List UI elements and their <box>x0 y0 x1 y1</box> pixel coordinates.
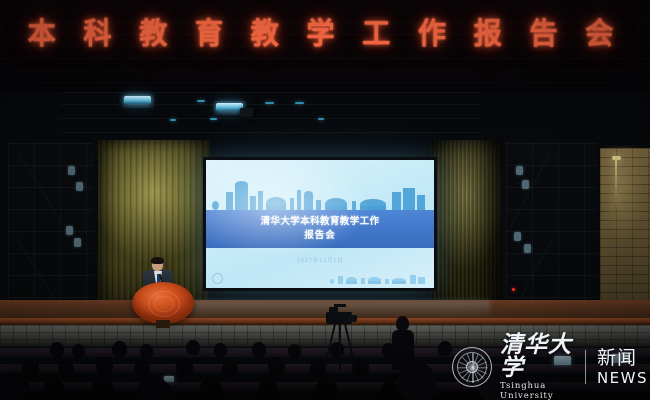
audience-head <box>50 342 64 357</box>
operator-head <box>396 316 409 331</box>
tsinghua-seal-icon <box>452 347 492 387</box>
audience-head <box>58 360 74 377</box>
watermark-university-cn: 清华大学 <box>500 333 573 379</box>
stage-lamp-2 <box>216 103 243 111</box>
lighting-rig <box>60 88 480 146</box>
podium-front-disc <box>132 282 194 324</box>
audience-head <box>438 341 452 356</box>
slide-title-band: 清华大学本科教育教学工作 报告会 <box>206 210 434 248</box>
slide-title-line1: 清华大学本科教育教学工作 <box>261 216 380 228</box>
audience-head <box>96 357 113 375</box>
stage-lamp-6 <box>295 102 304 104</box>
watermark-divider <box>585 350 586 384</box>
audience-head <box>112 341 127 357</box>
podium-base <box>156 320 170 328</box>
left-stage-truss <box>8 142 94 320</box>
audience-head <box>222 360 238 377</box>
foreground-head-1 <box>0 372 30 400</box>
foreground-head-2 <box>136 378 172 400</box>
projection-screen: 清华大学本科教育教学工作 报告会 2017年11月1日 <box>206 160 434 288</box>
audience-head <box>72 344 85 358</box>
audience-head <box>200 377 222 400</box>
watermark: 清华大学 Tsinghua University 新闻 NEWS <box>452 338 648 396</box>
audience-head <box>252 342 266 357</box>
presentation-slide: 清华大学本科教育教学工作 报告会 2017年11月1日 <box>206 160 434 288</box>
stage-lamp-8 <box>170 119 176 121</box>
audience-head <box>380 381 400 400</box>
slide-corner-circle <box>212 273 223 284</box>
audience-head <box>258 380 278 400</box>
audience-head <box>22 358 39 376</box>
side-brick-wall <box>600 148 650 320</box>
audience-head <box>92 376 113 399</box>
audience-head <box>316 378 337 400</box>
stage-curtain-right <box>430 140 502 318</box>
stage-lamp-4 <box>197 100 205 102</box>
audience-head <box>186 340 200 355</box>
audience-head <box>214 343 227 357</box>
banner-title: 本 科 教 育 教 学 工 作 报 告 会 <box>28 11 622 53</box>
stage-lamp-housing-3 <box>240 108 253 117</box>
watermark-section-cn: 新闻 <box>597 349 637 368</box>
equipment-indicator-light <box>512 288 515 291</box>
stage-lamp-5 <box>265 102 274 104</box>
slide-date: 2017年11月1日 <box>206 256 434 264</box>
foreground-head-3 <box>398 362 436 400</box>
speaker-hair <box>151 257 164 264</box>
stage-lamp-9 <box>318 118 324 120</box>
audience-head <box>134 360 150 377</box>
audience-head <box>176 358 193 376</box>
audience-head <box>44 378 64 400</box>
audience-head <box>288 344 301 358</box>
podium <box>132 282 194 326</box>
slide-footer-motif <box>330 270 426 284</box>
audience-head <box>330 342 344 357</box>
camera-lens <box>348 315 357 322</box>
audience-head <box>140 344 153 358</box>
conference-photo: 本 科 教 育 教 学 工 作 报 告 会 <box>0 0 650 400</box>
slide-title-line2: 报告会 <box>304 230 336 242</box>
audience-head <box>268 357 285 375</box>
stage-lamp-1 <box>124 96 151 104</box>
podium-emblem <box>148 291 180 317</box>
stage-edge <box>0 318 650 325</box>
watermark-section-en: NEWS <box>597 371 648 386</box>
right-stage-truss <box>506 142 598 320</box>
wall-lamp-pole <box>615 158 617 210</box>
slide-skyline-illustration <box>212 182 428 210</box>
led-banner: 本 科 教 育 教 学 工 作 报 告 会 <box>0 8 650 56</box>
stage-lamp-7 <box>210 118 217 120</box>
tripod-leg-center <box>339 324 341 370</box>
watermark-university-en: Tsinghua University <box>500 381 573 400</box>
